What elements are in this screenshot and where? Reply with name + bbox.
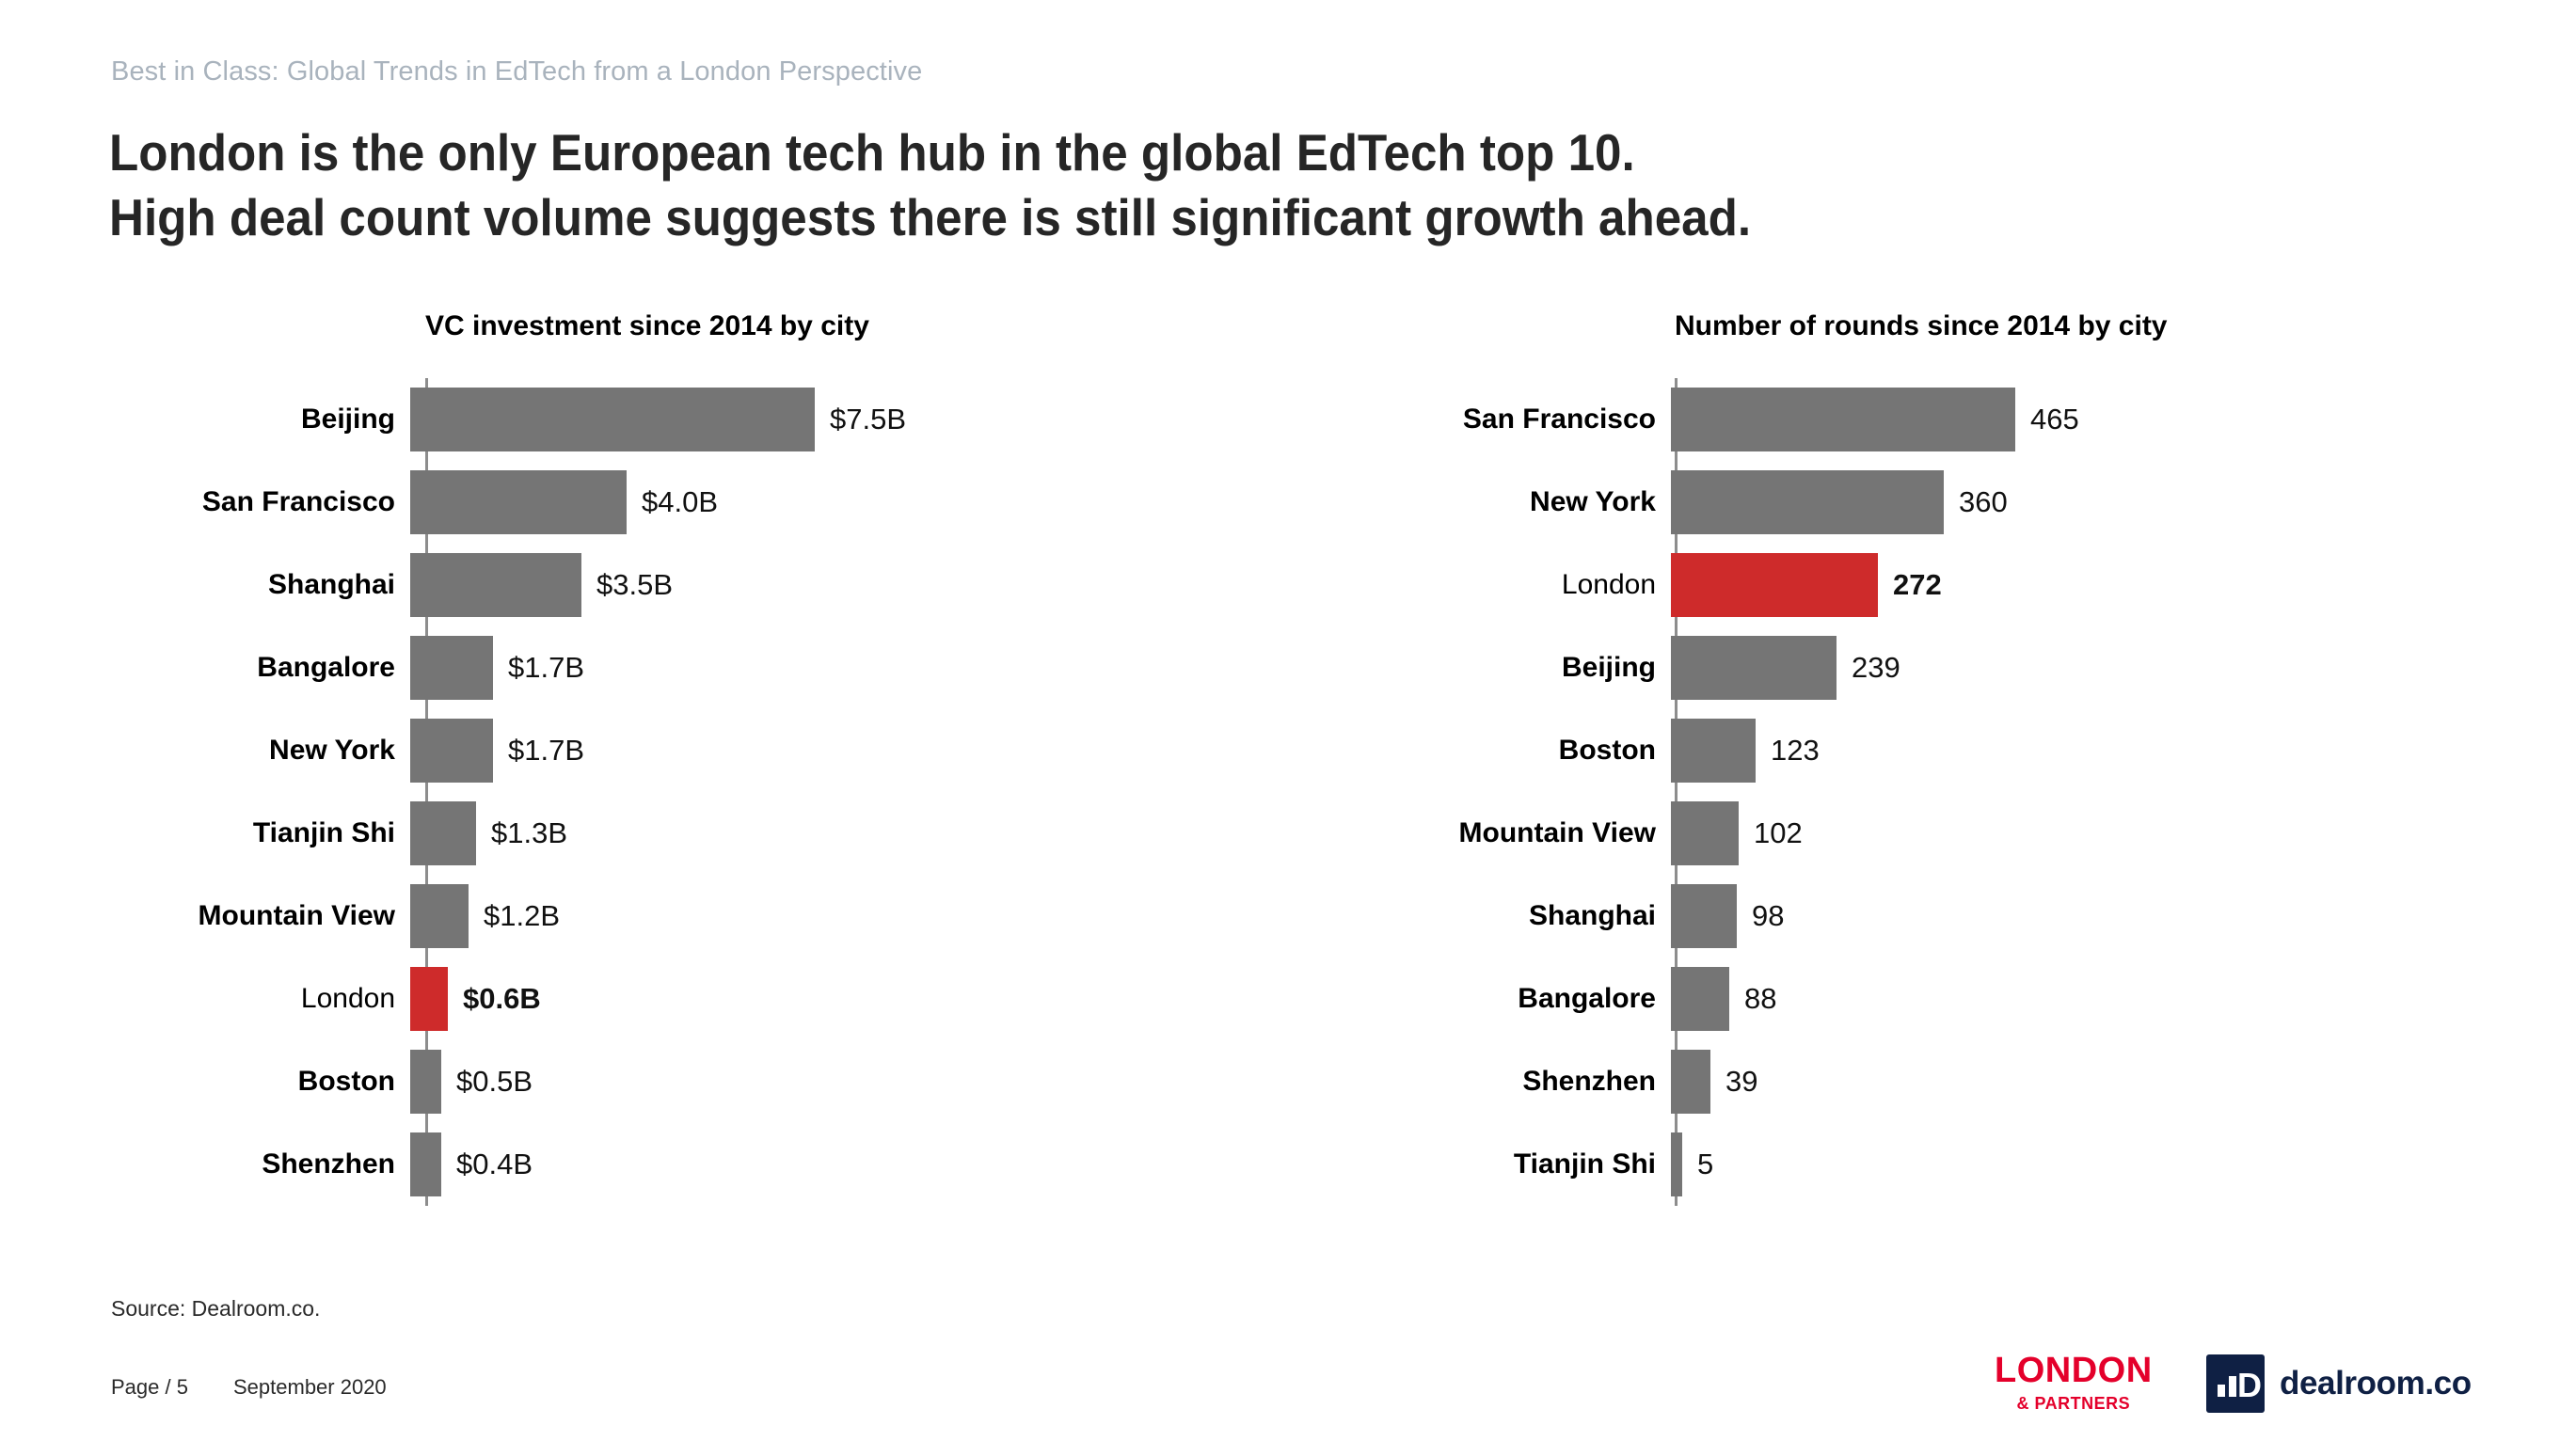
bar xyxy=(1671,553,1878,617)
bar-row: Beijing239 xyxy=(1392,626,2484,709)
bar-container: 239 xyxy=(1671,626,2484,709)
london-and-partners-logo-main: LONDON xyxy=(1995,1353,2153,1388)
dealroom-icon-letter-d: D xyxy=(2237,1369,2262,1402)
bar-category-label: Boston xyxy=(1392,735,1671,767)
dealroom-icon-bar-large xyxy=(2229,1376,2236,1397)
bar-container: 98 xyxy=(1671,875,2484,958)
bar xyxy=(410,967,448,1031)
bar-row: London272 xyxy=(1392,544,2484,626)
bar-value-label: $1.7B xyxy=(493,734,584,768)
bar-category-label: Tianjin Shi xyxy=(1392,1148,1671,1180)
bar-container: $0.6B xyxy=(410,958,1185,1040)
dealroom-logo: D dealroom.co xyxy=(2206,1354,2472,1413)
bar-category-label: Shenzhen xyxy=(132,1148,410,1180)
bar-row: Mountain View102 xyxy=(1392,792,2484,875)
bar-container: $0.5B xyxy=(410,1040,1185,1123)
bar-value-label: 102 xyxy=(1739,816,1803,850)
dealroom-icon-bar-small xyxy=(2218,1385,2225,1397)
bar-row: Boston$0.5B xyxy=(132,1040,1185,1123)
bar-category-label: Boston xyxy=(132,1066,410,1098)
bar-value-label: 239 xyxy=(1837,651,1900,685)
bar-row: Boston123 xyxy=(1392,709,2484,792)
headline-line-2: High deal count volume suggests there is… xyxy=(109,185,1751,250)
bar-category-label: Mountain View xyxy=(1392,817,1671,849)
chart-vc-investment: VC investment since 2014 by city Beijing… xyxy=(132,310,1185,1206)
bar-row: Shanghai98 xyxy=(1392,875,2484,958)
bar xyxy=(1671,719,1756,783)
bar-category-label: London xyxy=(1392,569,1671,601)
bar xyxy=(1671,1050,1710,1114)
bar-category-label: Beijing xyxy=(132,404,410,435)
bar xyxy=(1671,1132,1682,1196)
bar-category-label: Bangalore xyxy=(1392,983,1671,1015)
bar-value-label: $1.3B xyxy=(476,816,567,850)
bar-category-label: Shenzhen xyxy=(1392,1066,1671,1098)
bar-row: Mountain View$1.2B xyxy=(132,875,1185,958)
bar xyxy=(410,719,493,783)
bar xyxy=(410,801,476,865)
dealroom-bar-chart-icon: D xyxy=(2206,1354,2265,1413)
bar-row: Bangalore$1.7B xyxy=(132,626,1185,709)
page-number: Page / 5 xyxy=(111,1375,188,1400)
bar xyxy=(410,388,815,451)
bar xyxy=(410,636,493,700)
bar-row: Shanghai$3.5B xyxy=(132,544,1185,626)
bar-container: $1.3B xyxy=(410,792,1185,875)
bar-container: $1.2B xyxy=(410,875,1185,958)
bar-value-label: 360 xyxy=(1944,485,2008,519)
bar-category-label: San Francisco xyxy=(132,486,410,518)
bar-container: 88 xyxy=(1671,958,2484,1040)
bar-container: 272 xyxy=(1671,544,2484,626)
bar-container: 360 xyxy=(1671,461,2484,544)
bar-value-label: $4.0B xyxy=(627,485,718,519)
bar-value-label: $1.2B xyxy=(469,899,560,933)
bar-container: 102 xyxy=(1671,792,2484,875)
bar-value-label: 5 xyxy=(1682,1148,1713,1181)
bar-value-label: 39 xyxy=(1710,1065,1757,1099)
bar-category-label: Shanghai xyxy=(1392,900,1671,932)
bar-row: New York$1.7B xyxy=(132,709,1185,792)
bar-value-label: $3.5B xyxy=(581,568,673,602)
bar-value-label: 98 xyxy=(1737,899,1784,933)
bar-row: New York360 xyxy=(1392,461,2484,544)
bar-row: Tianjin Shi$1.3B xyxy=(132,792,1185,875)
bar xyxy=(1671,636,1837,700)
bar-container: 5 xyxy=(1671,1123,2484,1206)
bar-category-label: San Francisco xyxy=(1392,404,1671,435)
bar xyxy=(1671,884,1737,948)
bar-category-label: London xyxy=(132,983,410,1015)
chart-title-vc-investment: VC investment since 2014 by city xyxy=(132,310,1185,342)
dealroom-wordmark: dealroom.co xyxy=(2280,1365,2472,1402)
chart-title-number-of-rounds: Number of rounds since 2014 by city xyxy=(1392,310,2484,342)
bar-container: $3.5B xyxy=(410,544,1185,626)
chart-number-of-rounds: Number of rounds since 2014 by city San … xyxy=(1392,310,2484,1206)
bar-value-label: 123 xyxy=(1756,734,1820,768)
bar xyxy=(1671,470,1944,534)
bar-value-label: $0.4B xyxy=(441,1148,533,1181)
bar-value-label: $0.5B xyxy=(441,1065,533,1099)
london-and-partners-logo-sub: & PARTNERS xyxy=(1995,1395,2153,1412)
eyebrow-subtitle: Best in Class: Global Trends in EdTech f… xyxy=(111,56,922,87)
bar-category-label: Bangalore xyxy=(132,652,410,684)
source-note: Source: Dealroom.co. xyxy=(111,1296,320,1322)
bar-container: 123 xyxy=(1671,709,2484,792)
bar xyxy=(410,1050,441,1114)
bar-category-label: Mountain View xyxy=(132,900,410,932)
headline-line-1: London is the only European tech hub in … xyxy=(109,120,1751,185)
bar-value-label: 88 xyxy=(1729,982,1776,1016)
plot-area-vc-investment: Beijing$7.5BSan Francisco$4.0BShanghai$3… xyxy=(132,378,1185,1206)
bar-row: Beijing$7.5B xyxy=(132,378,1185,461)
bar-category-label: Tianjin Shi xyxy=(132,817,410,849)
bar-container: $1.7B xyxy=(410,709,1185,792)
bar xyxy=(1671,388,2015,451)
bar-container: $1.7B xyxy=(410,626,1185,709)
bar-container: $7.5B xyxy=(410,378,1185,461)
bar-row: Shenzhen$0.4B xyxy=(132,1123,1185,1206)
bar xyxy=(410,1132,441,1196)
bar-category-label: New York xyxy=(1392,486,1671,518)
bar-value-label: $0.6B xyxy=(448,982,541,1016)
bar-value-label: 272 xyxy=(1878,568,1942,602)
bar xyxy=(1671,801,1739,865)
bar-row: San Francisco$4.0B xyxy=(132,461,1185,544)
bar-container: $4.0B xyxy=(410,461,1185,544)
bar-row: Tianjin Shi5 xyxy=(1392,1123,2484,1206)
bar-container: 39 xyxy=(1671,1040,2484,1123)
bar-row: Bangalore88 xyxy=(1392,958,2484,1040)
bar-category-label: Beijing xyxy=(1392,652,1671,684)
bar xyxy=(410,884,469,948)
bar-value-label: $1.7B xyxy=(493,651,584,685)
london-and-partners-logo: LONDON & PARTNERS xyxy=(1995,1353,2153,1412)
bar-category-label: Shanghai xyxy=(132,569,410,601)
bar-row: London$0.6B xyxy=(132,958,1185,1040)
bar-value-label: $7.5B xyxy=(815,403,906,436)
bar xyxy=(410,553,581,617)
bar-category-label: New York xyxy=(132,735,410,767)
bar-value-label: 465 xyxy=(2015,403,2079,436)
bar xyxy=(410,470,627,534)
bar-row: Shenzhen39 xyxy=(1392,1040,2484,1123)
bar xyxy=(1671,967,1729,1031)
page-date: September 2020 xyxy=(233,1375,387,1400)
plot-area-number-of-rounds: San Francisco465New York360London272Beij… xyxy=(1392,378,2484,1206)
page-title: London is the only European tech hub in … xyxy=(109,120,1751,251)
bar-row: San Francisco465 xyxy=(1392,378,2484,461)
bar-container: 465 xyxy=(1671,378,2484,461)
bar-container: $0.4B xyxy=(410,1123,1185,1206)
